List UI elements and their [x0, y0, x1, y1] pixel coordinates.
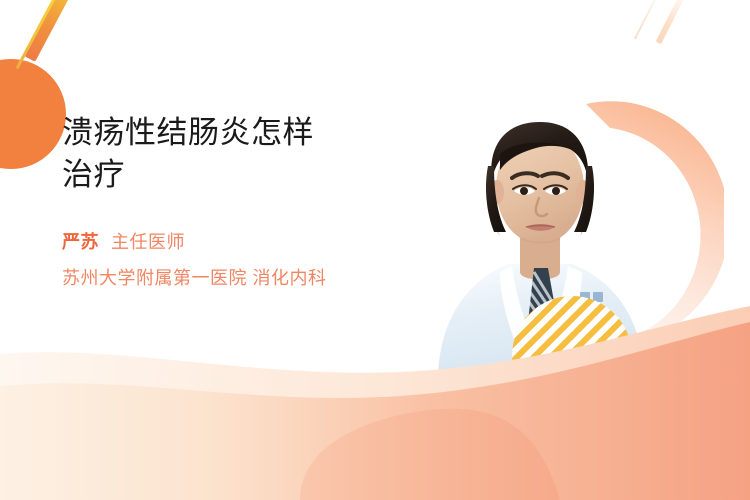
decoration-striped-circle: [512, 296, 632, 416]
page-title: 溃疡性结肠炎怎样 治疗: [62, 112, 432, 196]
decoration-pale-diagonal-stroke-top-right-b: [634, 0, 660, 40]
decoration-pale-diagonal-stroke-bottom-right: [446, 374, 467, 407]
text-block: 溃疡性结肠炎怎样 治疗 严苏主任医师 苏州大学附属第一医院 消化内科: [62, 112, 432, 292]
decoration-orange-circle: [0, 59, 66, 169]
doctor-title: 主任医师: [111, 232, 185, 252]
decoration-stripe-pattern: [512, 296, 632, 416]
decoration-yellow-diagonal-line: [16, 0, 62, 69]
doctor-byline: 严苏主任医师: [62, 228, 432, 256]
decoration-pale-diagonal-stroke-bottom-left: [144, 364, 169, 404]
doctor-name: 严苏: [62, 232, 99, 252]
doctor-affiliation: 苏州大学附属第一医院 消化内科: [62, 264, 432, 292]
decoration-pale-diagonal-stroke-top-right-a: [656, 0, 687, 44]
video-thumbnail-card: 溃疡性结肠炎怎样 治疗 严苏主任医师 苏州大学附属第一医院 消化内科: [0, 0, 750, 500]
decoration-orange-diagonal-stroke: [25, 0, 76, 62]
